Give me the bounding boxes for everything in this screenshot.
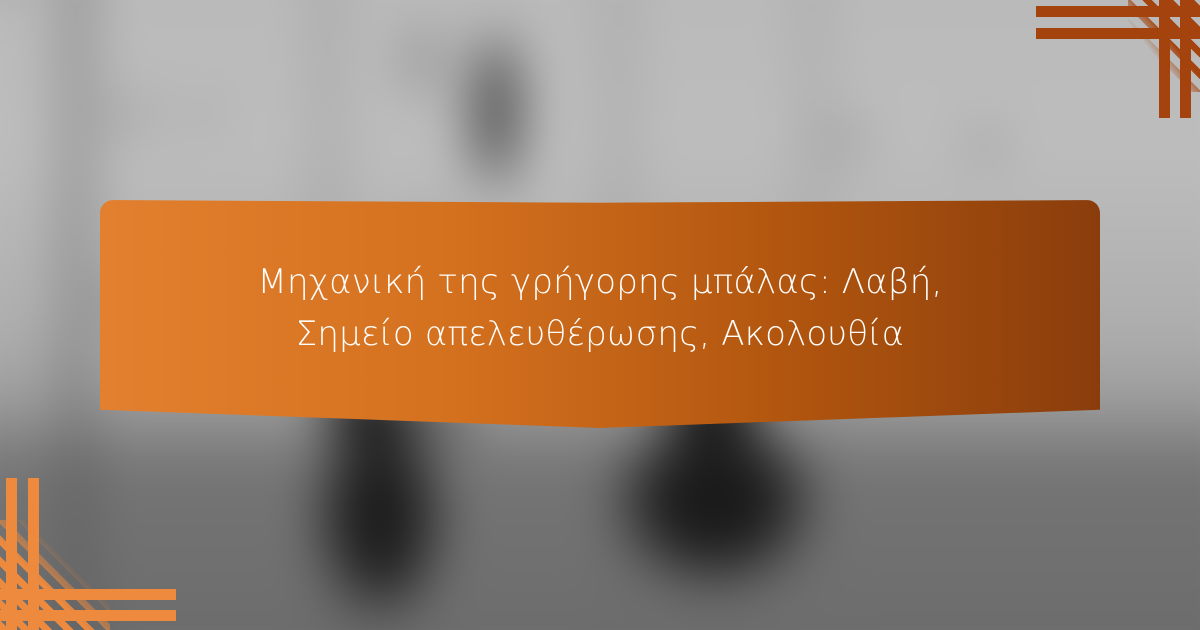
title-banner: Μηχανική της γρήγορης μπάλας: Λαβή, Σημε…	[100, 200, 1100, 428]
page-title: Μηχανική της γρήγορης μπάλας: Λαβή, Σημε…	[220, 256, 980, 360]
social-card: Μηχανική της γρήγορης μπάλας: Λαβή, Σημε…	[0, 0, 1200, 630]
